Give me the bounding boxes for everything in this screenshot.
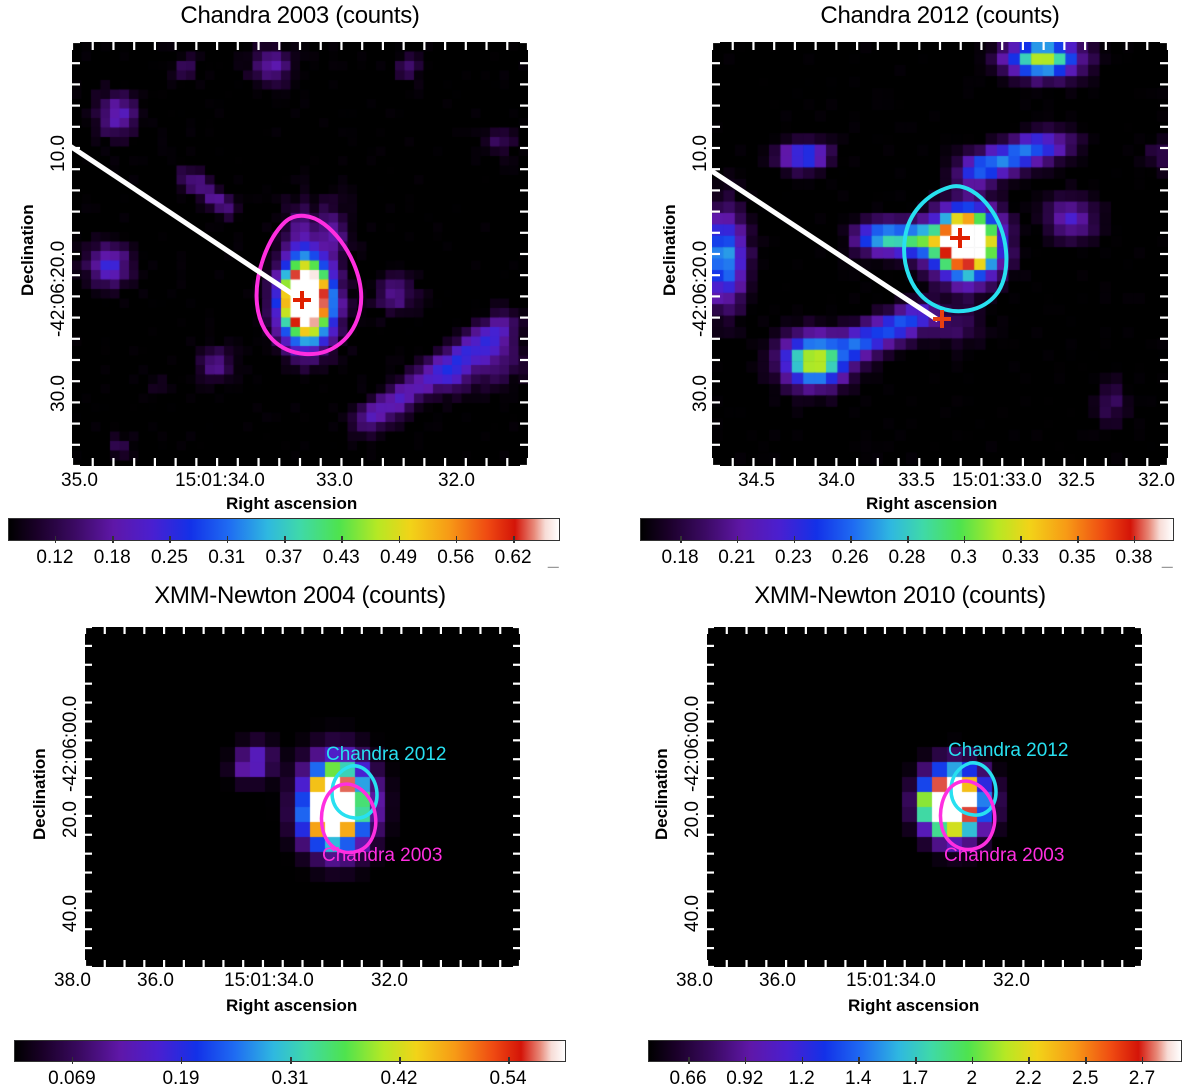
colorbar-tick-xmm-2004-2	[290, 1057, 292, 1064]
colorbar-tick-xmm-2004-3	[399, 1057, 401, 1064]
annotation-chandra-2003-xmm-2010: Chandra 2003	[944, 845, 1064, 867]
colorbar-label-xmm-2004-2: 0.31	[250, 1068, 330, 1090]
colorbar-label-xmm-2004-3: 0.42	[359, 1068, 439, 1090]
xtick-xmm-2010-2: 15:01:34.0	[846, 970, 936, 992]
colorbar-tick-chandra-2003-2	[169, 536, 171, 543]
ytick-xmm-2010-1: 20.0	[682, 801, 704, 838]
ytick-chandra-2003-2: 30.0	[48, 375, 70, 412]
image-chandra-2012	[712, 42, 1168, 466]
xtick-chandra-2012-5: 32.0	[1138, 470, 1175, 492]
contour-chandra-2003-on-xmm-2004	[85, 627, 520, 967]
xtick-xmm-2004-1: 36.0	[137, 970, 174, 992]
red-cross-marker-chandra-2003	[72, 42, 528, 466]
colorbar-tick-chandra-2003-0	[55, 536, 57, 543]
ytick-chandra-2003-0: 10.0	[48, 135, 70, 172]
xtick-xmm-2004-0: 38.0	[54, 970, 91, 992]
colorbar-tick-xmm-2010-4	[915, 1057, 917, 1064]
annotation-chandra-2012-xmm-2004: Chandra 2012	[326, 744, 446, 766]
xtick-xmm-2010-1: 36.0	[759, 970, 796, 992]
annotation-chandra-2003-xmm-2004: Chandra 2003	[322, 845, 442, 867]
xtick-chandra-2012-0: 34.5	[738, 470, 775, 492]
ytick-chandra-2012-2: 30.0	[690, 375, 712, 412]
image-xmm-2004	[85, 627, 520, 967]
panel-title-xmm-2010: XMM-Newton 2010 (counts)	[660, 582, 1140, 610]
colorbar-tick-xmm-2010-2	[802, 1057, 804, 1064]
xtick-xmm-2004-3: 32.0	[371, 970, 408, 992]
colorbar-tick-chandra-2012-7	[1077, 536, 1079, 543]
colorbar-tick-chandra-2012-5	[964, 536, 966, 543]
colorbar-label-xmm-2004-0: 0.069	[32, 1068, 112, 1090]
colorbar-tick-chandra-2003-6	[399, 536, 401, 543]
ytick-xmm-2004-1: 20.0	[60, 801, 82, 838]
contour-chandra-2003-on-xmm-2010	[707, 627, 1142, 967]
colorbar-tick-chandra-2003-5	[341, 536, 343, 543]
ytick-xmm-2004-0: -42:06:00.0	[60, 696, 82, 792]
colorbar-trailing-mark-chandra-2003: _	[548, 548, 559, 570]
colorbar-tick-chandra-2012-1	[737, 536, 739, 543]
xtick-chandra-2012-1: 34.0	[818, 470, 855, 492]
xtick-chandra-2012-4: 32.5	[1058, 470, 1095, 492]
xtick-xmm-2004-2: 15:01:34.0	[224, 970, 314, 992]
xtick-chandra-2012-3: 15:01:33.0	[952, 470, 1042, 492]
ylabel-chandra-2012: Declination	[660, 204, 680, 296]
colorbar-tick-xmm-2004-4	[508, 1057, 510, 1064]
colorbar-tick-chandra-2003-3	[227, 536, 229, 543]
panel-title-xmm-2004: XMM-Newton 2004 (counts)	[60, 582, 540, 610]
ylabel-chandra-2003: Declination	[18, 204, 38, 296]
colorbar-trailing-mark-chandra-2012: _	[1162, 548, 1173, 570]
annotation-chandra-2012-xmm-2010: Chandra 2012	[948, 740, 1068, 762]
colorbar-tick-chandra-2003-8	[513, 536, 515, 543]
ytick-xmm-2010-2: 40.0	[682, 895, 704, 932]
image-chandra-2003	[72, 42, 528, 466]
colorbar-tick-xmm-2010-5	[972, 1057, 974, 1064]
colorbar-label-xmm-2004-4: 0.54	[468, 1068, 548, 1090]
ylabel-xmm-2010: Declination	[652, 748, 672, 840]
colorbar-tick-chandra-2003-7	[456, 536, 458, 543]
colorbar-tick-xmm-2010-7	[1085, 1057, 1087, 1064]
colorbar-tick-xmm-2010-3	[858, 1057, 860, 1064]
colorbar-tick-chandra-2003-1	[112, 536, 114, 543]
ytick-chandra-2012-1: -42:06:20.0	[690, 241, 712, 337]
ytick-chandra-2003-1: -42:06:20.0	[48, 241, 70, 337]
xtick-chandra-2003-1: 15:01:34.0	[175, 470, 265, 492]
xlabel-chandra-2012: Right ascension	[866, 494, 997, 514]
ylabel-xmm-2004: Declination	[30, 748, 50, 840]
colorbar-tick-chandra-2003-4	[284, 536, 286, 543]
xtick-chandra-2003-2: 33.0	[316, 470, 353, 492]
red-cross-marker-chandra-2012-secondary	[712, 42, 1168, 466]
xtick-xmm-2010-0: 38.0	[676, 970, 713, 992]
colorbar-tick-chandra-2012-3	[850, 536, 852, 543]
xlabel-xmm-2004: Right ascension	[226, 996, 357, 1016]
colorbar-tick-xmm-2010-1	[745, 1057, 747, 1064]
xtick-xmm-2010-3: 32.0	[993, 970, 1030, 992]
colorbar-label-chandra-2003-8: 0.62	[473, 547, 553, 569]
xtick-chandra-2003-3: 32.0	[438, 470, 475, 492]
colorbar-tick-chandra-2012-0	[680, 536, 682, 543]
panel-title-chandra-2003: Chandra 2003 (counts)	[72, 2, 528, 30]
colorbar-tick-chandra-2012-6	[1020, 536, 1022, 543]
colorbar-tick-xmm-2004-0	[72, 1057, 74, 1064]
image-xmm-2010	[707, 627, 1142, 967]
xlabel-chandra-2003: Right ascension	[226, 494, 357, 514]
xlabel-xmm-2010: Right ascension	[848, 996, 979, 1016]
xtick-chandra-2003-0: 35.0	[61, 470, 98, 492]
xtick-chandra-2012-2: 33.5	[898, 470, 935, 492]
panel-title-chandra-2012: Chandra 2012 (counts)	[712, 2, 1168, 30]
ytick-xmm-2010-0: -42:06:00.0	[682, 696, 704, 792]
colorbar-tick-chandra-2012-4	[907, 536, 909, 543]
colorbar-tick-xmm-2010-8	[1142, 1057, 1144, 1064]
colorbar-tick-xmm-2010-6	[1028, 1057, 1030, 1064]
colorbar-tick-xmm-2010-0	[688, 1057, 690, 1064]
ytick-chandra-2012-0: 10.0	[690, 135, 712, 172]
colorbar-label-xmm-2004-1: 0.19	[141, 1068, 221, 1090]
colorbar-tick-xmm-2004-1	[181, 1057, 183, 1064]
ytick-xmm-2004-2: 40.0	[60, 895, 82, 932]
colorbar-tick-chandra-2012-8	[1134, 536, 1136, 543]
colorbar-label-xmm-2010-8: 2.7	[1102, 1068, 1182, 1090]
colorbar-tick-chandra-2012-2	[794, 536, 796, 543]
